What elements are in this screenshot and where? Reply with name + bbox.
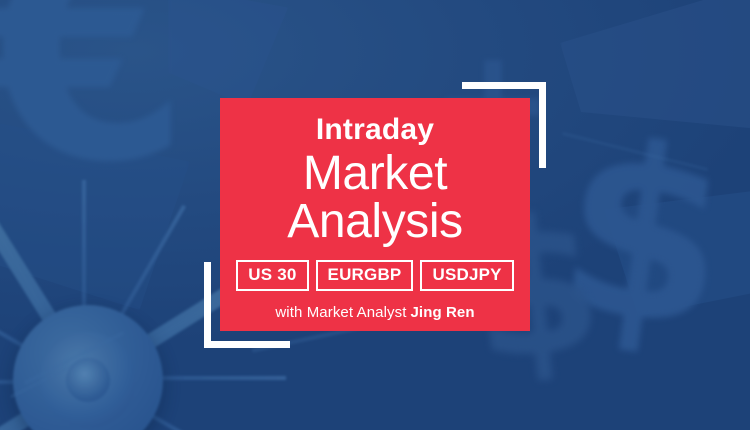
euro-currency-icon: €	[0, 0, 191, 204]
byline: with Market AnalystJing Ren	[275, 304, 474, 321]
intraday-market-analysis-banner: + € $ $	[0, 0, 750, 430]
analyst-name: Jing Ren	[410, 304, 474, 321]
eyebrow-title: Intraday	[316, 114, 434, 146]
corner-bracket-bottom-left	[204, 262, 211, 348]
instrument-badge-usdjpy[interactable]: USDJPY	[420, 260, 513, 290]
instrument-badge-list: US 30 EURGBP USDJPY	[236, 260, 513, 290]
page-title: Market Analysis	[287, 150, 463, 245]
corner-bracket-top-right	[539, 82, 546, 168]
page-title-line-2: Analysis	[287, 198, 463, 246]
content-card: Intraday Market Analysis US 30 EURGBP US…	[220, 98, 530, 331]
instrument-badge-us30[interactable]: US 30	[236, 260, 308, 290]
page-title-line-1: Market	[287, 150, 463, 198]
instrument-badge-eurgbp[interactable]: EURGBP	[316, 260, 414, 290]
corner-bracket-top-right	[462, 82, 546, 89]
corner-bracket-bottom-left	[204, 341, 290, 348]
byline-prefix: with Market Analyst	[275, 304, 406, 321]
